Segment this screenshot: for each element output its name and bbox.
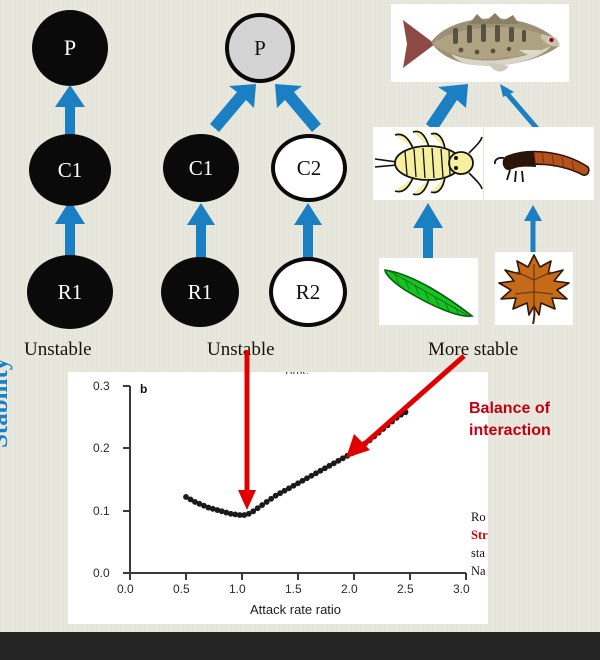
stonefly-nymph-icon (373, 127, 483, 200)
arrow-r1-to-c1-chain1 (52, 200, 88, 262)
stonefly-nymph-photo (373, 127, 483, 200)
citation-line-3: sta (471, 544, 600, 562)
ytick-label: 0.2 (93, 441, 110, 455)
smallmouth-bass-icon (391, 4, 569, 82)
caption-unstable-left: Unstable (24, 339, 92, 361)
ytick-label: 0.3 (93, 379, 110, 393)
y-axis-title: Stability (0, 358, 14, 448)
citation-line-2: Str (471, 526, 600, 544)
node-label: R1 (58, 282, 83, 303)
annotation-arrow-to-rising-branch (340, 352, 470, 462)
node-label: R2 (296, 282, 321, 303)
node-label: C1 (58, 160, 83, 181)
caddisfly-larva-icon (484, 127, 594, 200)
arrow-r1-to-c1-chain2 (184, 203, 218, 261)
filamentous-algae-icon (379, 258, 478, 325)
node-c1-chain2: C1 (163, 134, 239, 202)
caddisfly-larva-photo (484, 127, 594, 200)
red-heading: Balance of interaction (469, 398, 600, 441)
xtick-label: 1.5 (285, 582, 302, 596)
xtick-label: 2.5 (397, 582, 414, 596)
node-label: C1 (189, 158, 214, 179)
ytick-label: 0.0 (93, 566, 110, 580)
node-p-chain1: P (32, 10, 108, 86)
green-algae-photo (379, 258, 478, 325)
node-r2-chain2: R2 (269, 257, 347, 327)
node-c1-chain1: C1 (29, 134, 111, 206)
arrow-c2-to-p-chain2 (270, 82, 326, 138)
node-label: R1 (188, 282, 213, 303)
annotation-arrow-to-minimum (236, 350, 258, 512)
citation-text: Ro Str sta Na (471, 508, 600, 581)
xtick-label: 0.5 (173, 582, 190, 596)
fish-photo (391, 4, 569, 82)
maple-leaf-icon (495, 252, 573, 325)
arrow-r2-to-c2-chain2 (291, 203, 325, 261)
arrow-c1-to-p-chain1 (52, 85, 88, 139)
xtick-label: 1.0 (229, 582, 246, 596)
xtick-label: 0.0 (117, 582, 134, 596)
node-r1-chain2: R1 (161, 257, 239, 327)
node-r1-chain1: R1 (27, 255, 113, 329)
node-p-chain2: P (225, 13, 295, 83)
x-axis-title: Attack rate ratio (250, 602, 341, 617)
ytick-label: 0.1 (93, 504, 110, 518)
xtick-label: 2.0 (341, 582, 358, 596)
arrow-algae-to-nymph (410, 203, 446, 265)
node-label: P (254, 38, 266, 59)
arrow-c1-to-p-chain2 (205, 82, 261, 138)
slide-canvas: P C1 R1 P C1 (0, 0, 600, 632)
node-label: P (64, 37, 76, 59)
node-label: C2 (297, 158, 322, 179)
citation-line-4: Na (471, 562, 600, 580)
citation-line-1: Ro (471, 508, 600, 526)
node-c2-chain2: C2 (271, 134, 347, 202)
presentation-bottom-bar (0, 632, 600, 660)
xtick-label: 3.0 (453, 582, 470, 596)
maple-leaf-photo (495, 252, 573, 325)
